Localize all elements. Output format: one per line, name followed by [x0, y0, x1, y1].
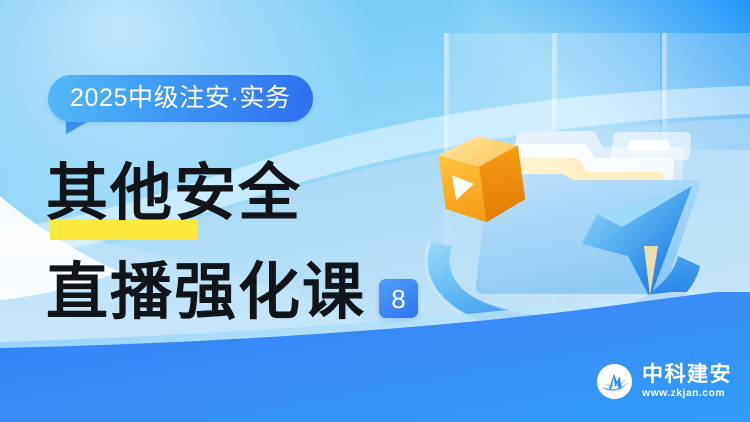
- brand-website: www.zkjan.com: [642, 388, 732, 399]
- title-line-1-text: 其他安全: [46, 163, 302, 225]
- course-subject-badge: 2025中级注安·实务: [48, 75, 313, 122]
- brand-logo[interactable]: 中科建安 www.zkjan.com: [596, 363, 732, 400]
- brand-mark-icon: [596, 363, 633, 400]
- episode-count-badge: 8: [379, 279, 418, 318]
- brand-name: 中科建安: [642, 364, 732, 385]
- course-subject-label: 2025中级注安·实务: [70, 86, 291, 111]
- banner-text-content: 2025中级注安·实务 其他安全 直播强化课 8: [0, 0, 460, 422]
- page-title-line-1: 其他安全: [46, 158, 302, 230]
- brand-text-block: 中科建安 www.zkjan.com: [642, 364, 732, 399]
- course-banner: 2025中级注安·实务 其他安全 直播强化课 8 中科建安 www.zkjan.…: [0, 0, 750, 422]
- page-title-line-2: 直播强化课 8: [46, 252, 418, 324]
- episode-count-value: 8: [391, 286, 405, 312]
- title-line-2-text: 直播强化课: [46, 262, 366, 324]
